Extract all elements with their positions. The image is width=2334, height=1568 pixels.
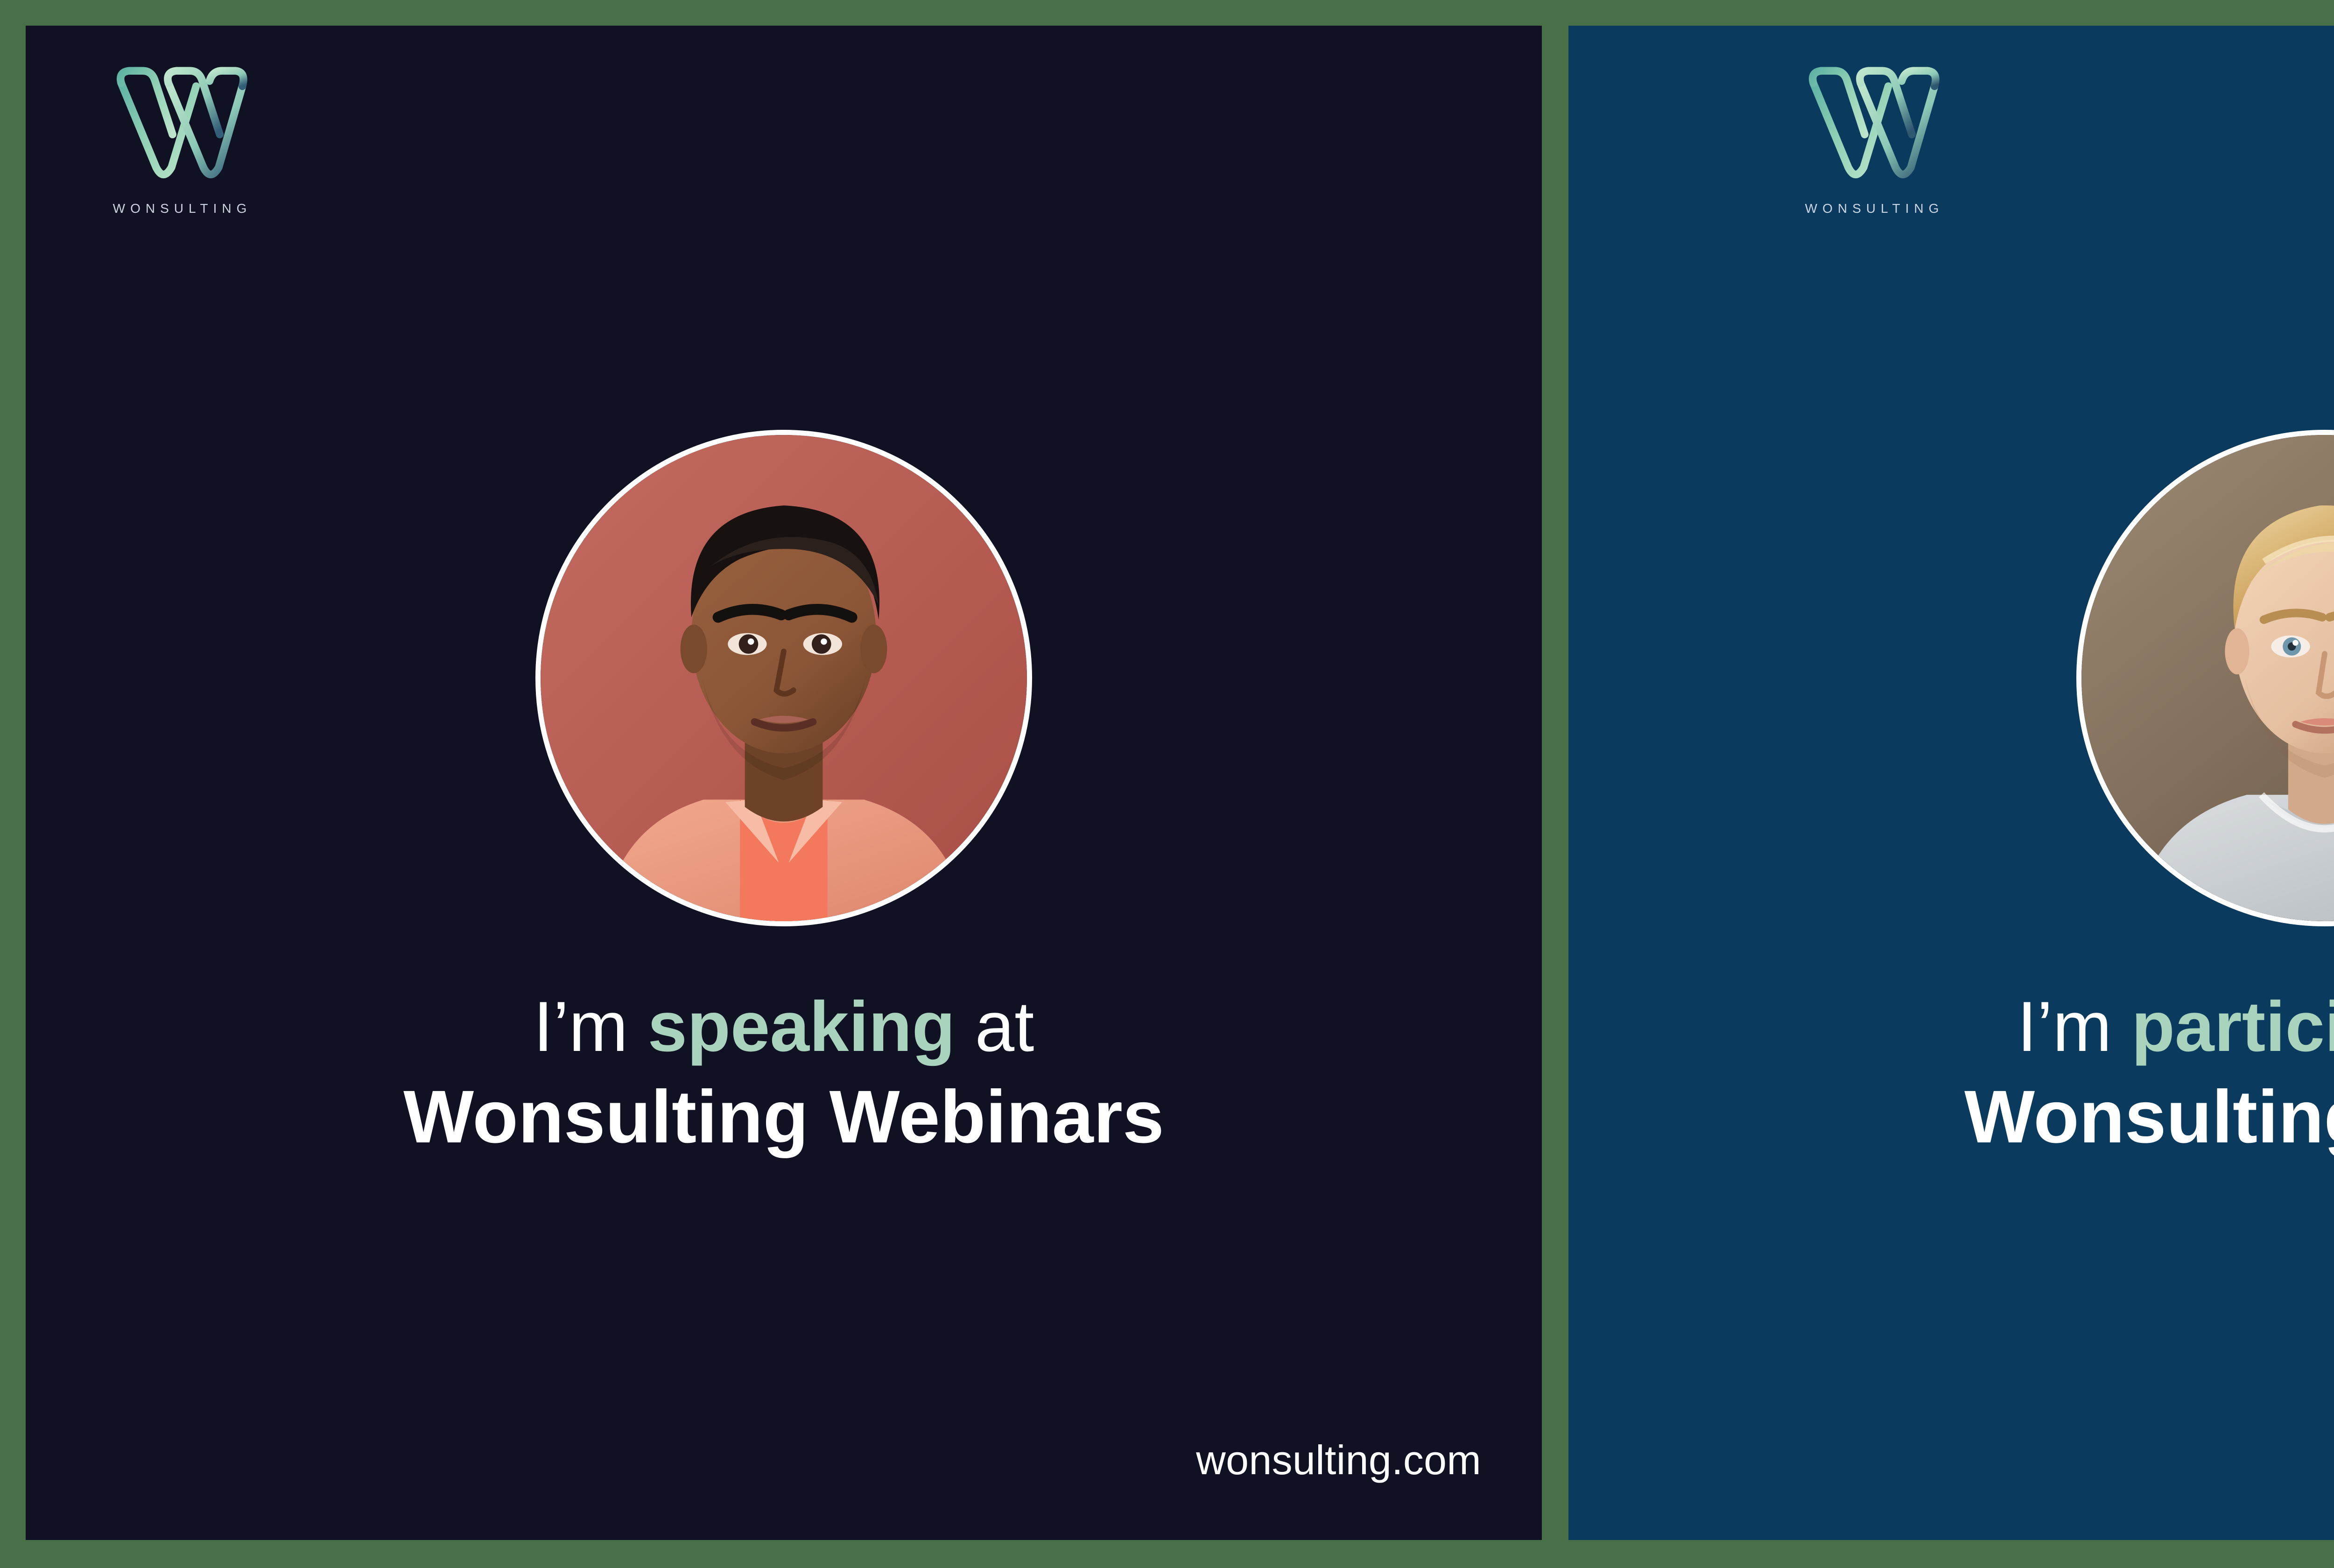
poster-canvas: WONSULTING (0, 0, 2334, 1568)
brand-wordmark: WONSULTING (1774, 201, 1970, 216)
brand-logo-block: WONSULTING (82, 49, 278, 216)
headline-accent-word: participating (2131, 987, 2334, 1066)
headline-prefix: I’m (534, 987, 648, 1066)
footer-website-url[interactable]: wonsulting.com (1196, 1436, 1481, 1484)
headline-accent-word: speaking (647, 987, 955, 1066)
headline-suffix: at (955, 987, 1034, 1066)
avatar-photo-speaking (541, 435, 1027, 921)
panel-speaking: WONSULTING (26, 26, 1542, 1540)
headline-line-1: I’m participating in (1624, 987, 2334, 1066)
panel-participating: WONSULTING (1568, 26, 2334, 1540)
headline-participating: I’m participating in Wonsulting Projects (1568, 987, 2334, 1160)
headline-prefix: I’m (2017, 987, 2131, 1066)
avatar-photo-participating (2081, 435, 2334, 921)
wonsulting-w-logo-icon (1795, 49, 1949, 198)
wonsulting-w-logo-icon (103, 49, 257, 198)
headline-line-2: Wonsulting Webinars (82, 1074, 1486, 1160)
avatar (2076, 430, 2334, 926)
headline-speaking: I’m speaking at Wonsulting Webinars (26, 987, 1542, 1160)
avatar (535, 430, 1032, 926)
brand-wordmark: WONSULTING (82, 201, 278, 216)
headline-line-1: I’m speaking at (82, 987, 1486, 1066)
headline-line-2: Wonsulting Projects (1624, 1074, 2334, 1160)
brand-logo-block: WONSULTING (1774, 49, 1970, 216)
